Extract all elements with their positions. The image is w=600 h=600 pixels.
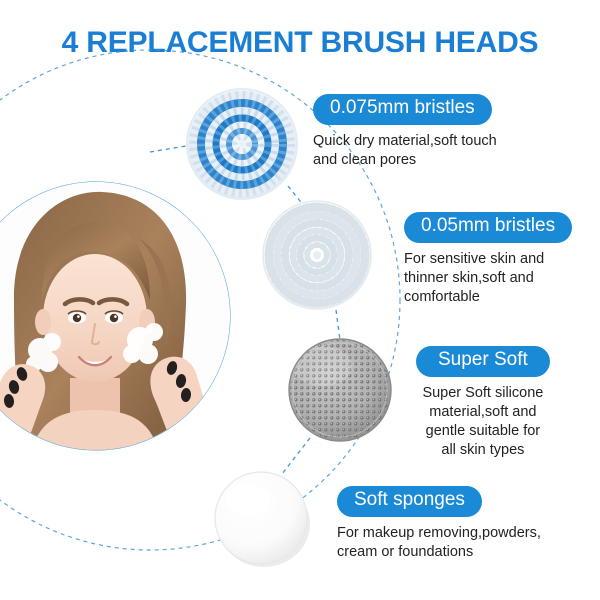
- callout-label-0[interactable]: 0.075mm bristles: [313, 94, 492, 125]
- callout-label-3[interactable]: Soft sponges: [337, 486, 482, 517]
- brush-head-blue-white: [186, 88, 298, 200]
- sponge-head-white-illustration: [212, 468, 312, 568]
- callout-blue-white-bristles: 0.075mm bristles Quick dry material,soft…: [313, 94, 497, 170]
- brush-head-blue-white-illustration: [186, 88, 298, 200]
- callout-soft-sponges: Soft sponges For makeup removing,powders…: [337, 486, 541, 562]
- callout-description-3: For makeup removing,powders, cream or fo…: [337, 524, 541, 562]
- sponge-head-white: [212, 468, 312, 568]
- brush-head-silicone-illustration: [288, 338, 392, 442]
- model-photo-illustration: [0, 182, 230, 450]
- connector-line-0: [150, 146, 186, 152]
- callout-white-bristles: 0.05mm bristles For sensitive skin and t…: [404, 212, 572, 307]
- brush-head-white-illustration: [262, 200, 372, 310]
- callout-description-1: For sensitive skin and thinner skin,soft…: [404, 250, 572, 307]
- model-photo: [0, 182, 230, 450]
- callout-label-2[interactable]: Super Soft: [416, 346, 550, 377]
- brush-head-silicone: [288, 338, 392, 442]
- brush-head-white: [262, 200, 372, 310]
- infographic-page: 4 REPLACEMENT BRUSH HEADS: [0, 0, 600, 600]
- callout-description-2: Super Soft silicone material,soft and ge…: [416, 384, 550, 461]
- page-title: 4 REPLACEMENT BRUSH HEADS: [0, 26, 600, 60]
- callout-description-0: Quick dry material,soft touch and clean …: [313, 132, 497, 170]
- connector-line-2: [336, 310, 340, 340]
- callout-label-1[interactable]: 0.05mm bristles: [404, 212, 572, 243]
- callout-super-soft: Super Soft Super Soft silicone material,…: [416, 346, 550, 460]
